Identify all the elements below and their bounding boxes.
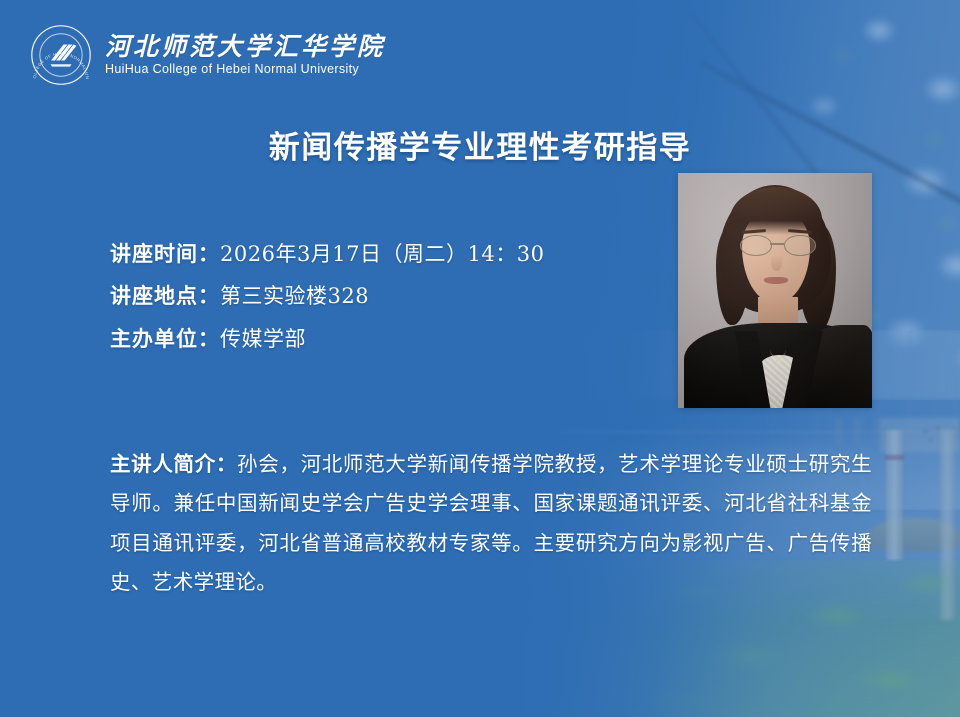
poster-title: 新闻传播学专业理性考研指导 bbox=[0, 122, 960, 167]
speaker-portrait bbox=[678, 173, 872, 408]
university-seal-icon: HUIHUA COLLEGE OF HEBEI NORMAL UNIVERSIT… bbox=[30, 24, 92, 86]
bio-label: 主讲人简介： bbox=[110, 452, 237, 476]
logo-name-en: HuiHua College of Hebei Normal Universit… bbox=[105, 62, 385, 76]
background-rock bbox=[866, 518, 960, 552]
speaker-bio: 主讲人简介：孙会，河北师范大学新闻传播学院教授，艺术学理论专业硕士研究生导师。兼… bbox=[110, 445, 872, 602]
background-railing bbox=[560, 430, 960, 434]
portrait-shading bbox=[678, 173, 872, 408]
info-row-time: 讲座时间： 2026年3月17日（周二）14：30 bbox=[110, 240, 544, 268]
info-row-location: 讲座地点： 第三实验楼328 bbox=[110, 282, 544, 310]
background-tree-trunk-second bbox=[940, 430, 955, 620]
university-logo: HUIHUA COLLEGE OF HEBEI NORMAL UNIVERSIT… bbox=[30, 24, 385, 86]
background-mural bbox=[916, 422, 960, 448]
info-label-organizer: 主办单位： bbox=[110, 325, 220, 352]
info-label-location: 讲座地点： bbox=[110, 282, 220, 309]
background-solid-blue bbox=[0, 0, 520, 717]
background-tree-trunk bbox=[886, 430, 903, 560]
info-row-organizer: 主办单位： 传媒学部 bbox=[110, 325, 544, 353]
background-people bbox=[835, 418, 905, 444]
lecture-info-block: 讲座时间： 2026年3月17日（周二）14：30 讲座地点： 第三实验楼328… bbox=[110, 240, 544, 353]
info-value-location: 第三实验楼328 bbox=[220, 283, 369, 310]
background-trunk-band bbox=[885, 455, 904, 460]
info-value-organizer: 传媒学部 bbox=[220, 326, 306, 353]
logo-name-cn: 河北师范大学汇华学院 bbox=[105, 34, 385, 60]
background-wall bbox=[880, 418, 960, 452]
lecture-poster: HUIHUA COLLEGE OF HEBEI NORMAL UNIVERSIT… bbox=[0, 0, 960, 717]
info-value-time: 2026年3月17日（周二）14：30 bbox=[220, 241, 544, 268]
logo-text-block: 河北师范大学汇华学院 HuiHua College of Hebei Norma… bbox=[105, 34, 385, 76]
info-label-time: 讲座时间： bbox=[110, 240, 220, 267]
